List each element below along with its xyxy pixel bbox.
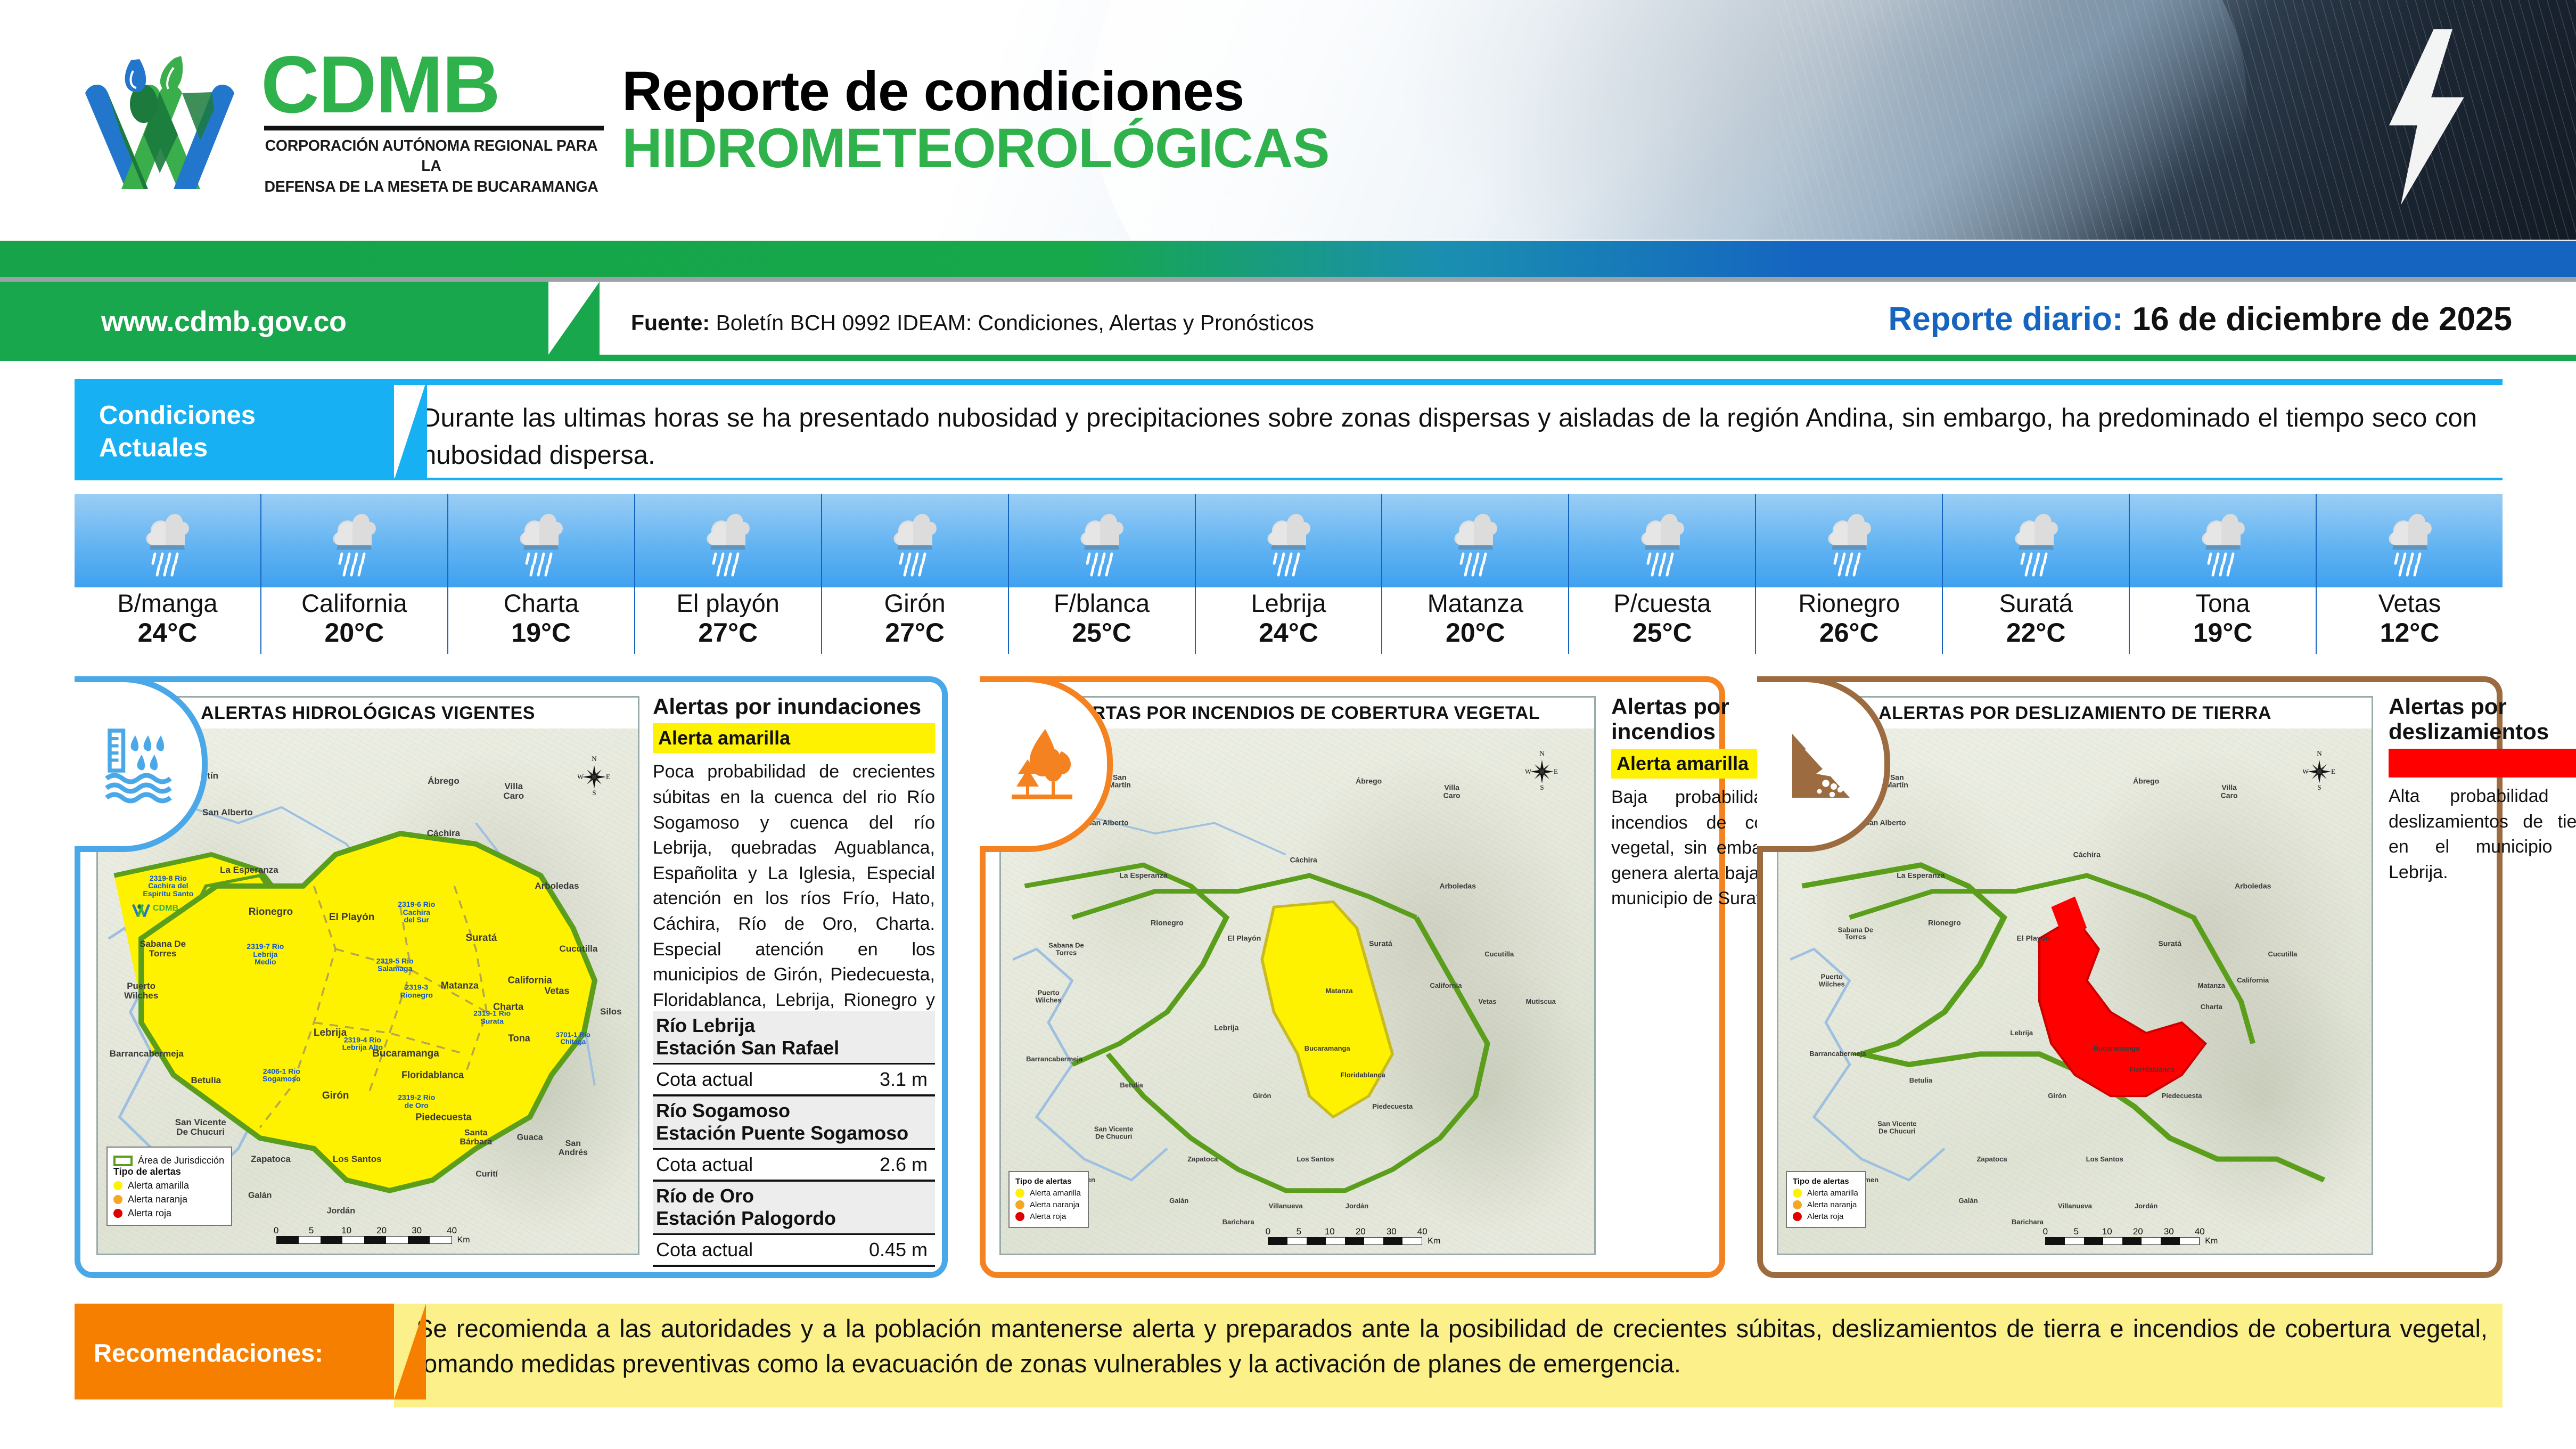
svg-text:CDMB: CDMB [153,904,178,913]
scalebar-tick: 5 [2074,1226,2079,1237]
fire-map-legend: Tipo de alertas Alerta amarilla Alerta n… [1008,1171,1089,1228]
scalebar-bar [276,1236,452,1244]
scalebar-segment [1364,1238,1383,1245]
page-header: CDMB CORPORACIÓN AUTÓNOMA REGIONAL PARA … [0,0,2576,240]
rain-cloud-icon [1444,504,1507,578]
legend-title: Tipo de alertas [113,1166,224,1177]
rain-cloud-icon [2378,504,2441,578]
scalebar-unit: Km [457,1235,470,1245]
scalebar-segment [1326,1238,1345,1245]
landslide-map-scalebar: 0510203040Km [2045,1226,2200,1245]
current-conditions-body: Durante las ultimas horas se ha presenta… [394,379,2503,480]
scalebar-tick: 30 [412,1225,422,1236]
recommendations-text: Se recomienda a las autoridades y a la p… [416,1311,2488,1381]
temperature-icon-area [1756,494,1942,587]
temperature-value: 24°C [75,618,260,648]
station-metric-value: 2.6 m [880,1153,928,1176]
website-url[interactable]: www.cdmb.gov.co [101,305,347,338]
report-date-label: Reporte diario: [1888,301,2123,338]
source-line: Fuente: Boletín BCH 0992 IDEAM: Condicio… [631,310,1314,335]
rain-cloud-icon [1070,504,1133,578]
temperature-cell: Tona 19°C [2130,494,2317,654]
flood-alert-panel: ALERTAS HIDROLÓGICAS VIGENTES [75,676,948,1278]
scalebar-unit: Km [2205,1237,2218,1246]
lightning-bolt-icon [2363,29,2485,205]
legend-color-dot-icon [1793,1200,1802,1209]
svg-text:N: N [2317,749,2322,757]
station-row: Cota actual 0.45 m [653,1235,935,1267]
temperature-city: Charta [448,590,634,618]
legend-item-label: Alerta roja [128,1208,171,1219]
logo-acronym: CDMB [261,48,618,122]
scalebar-bar [2045,1237,2200,1245]
landslide-body-text: Alta probabilidad de deslizamientos de t… [2389,784,2576,885]
scalebar-segment [364,1237,386,1243]
scalebar-segment [1307,1238,1326,1245]
flood-body-text: Poca probabilidad de crecientes súbitas … [653,759,935,1038]
scalebar-tick: 0 [274,1225,278,1236]
temperature-labels: California 20°C [261,587,447,654]
temperature-value: 27°C [822,618,1008,648]
scalebar-tick: 0 [2043,1226,2048,1237]
temperature-icon-area [261,494,447,587]
temperature-value: 22°C [1943,618,2129,648]
legend-item: Alerta roja [113,1208,224,1219]
temperature-labels: Girón 27°C [822,587,1008,654]
svg-text:N: N [1539,749,1545,757]
scalebar-tick: 40 [1417,1226,1428,1237]
scalebar-tick: 10 [341,1225,351,1236]
rain-cloud-icon [510,504,572,578]
legend-item: Alerta naranja [1015,1200,1081,1209]
temperature-cell: Girón 27°C [822,494,1009,654]
legend-color-dot-icon [1015,1200,1024,1209]
legend-color-dot-icon [1015,1189,1024,1198]
title-line-2: HIDROMETEOROLÓGICAS [622,120,1330,177]
river-stations-table: Río Lebrija Estación San Rafael Cota act… [653,1011,935,1267]
temperature-city: F/blanca [1009,590,1195,618]
scalebar-tick: 10 [1325,1226,1335,1237]
station-metric-value: 0.45 m [869,1239,928,1261]
legend-color-dot-icon [113,1181,122,1190]
temperature-labels: B/manga 24°C [75,587,260,654]
rain-cloud-icon [323,504,385,578]
temperature-labels: Matanza 20°C [1382,587,1568,654]
header-blue-arc [1448,0,2247,240]
temperature-value: 25°C [1009,618,1195,648]
temperature-value: 20°C [1382,618,1568,648]
station-header: Río de Oro Estación Palogordo [653,1182,935,1235]
legend-item-label: Alerta naranja [128,1194,187,1205]
scalebar-segment [2103,1238,2122,1245]
water-level-gauge-icon [99,724,178,804]
scalebar-tick: 20 [2133,1226,2143,1237]
scalebar-segment [430,1237,452,1243]
legend-item-label: Alerta roja [1030,1212,1066,1221]
temperature-icon-area [822,494,1008,587]
temperature-cell: Lebrija 24°C [1196,494,1383,654]
temperature-city: Rionegro [1756,590,1942,618]
svg-text:S: S [1540,783,1544,791]
flood-map-legend: Área de JurisdicciónTipo de alertas Aler… [106,1147,232,1226]
scalebar-segment [2161,1238,2180,1245]
temperature-value: 26°C [1756,618,1942,648]
rain-cloud-icon [883,504,946,578]
temperature-value: 20°C [261,618,447,648]
legend-color-dot-icon [113,1195,122,1204]
temperature-value: 19°C [448,618,634,648]
station-river: Río Sogamoso [656,1100,931,1122]
legend-title: Tipo de alertas [1793,1177,1858,1186]
temperature-cell: Vetas 12°C [2317,494,2503,654]
legend-item: Alerta roja [1015,1212,1081,1221]
legend-jurisdiction-label: Área de Jurisdicción [138,1155,224,1166]
rain-cloud-icon [696,504,759,578]
temperature-city: Lebrija [1196,590,1382,618]
temperature-icon-area [1382,494,1568,587]
scalebar-tick: 40 [2195,1226,2205,1237]
svg-text:E: E [1554,767,1558,775]
temperature-icon-area [448,494,634,587]
svg-text:N: N [592,755,597,763]
fire-alert-panel: ALERTAS POR INCENDIOS DE COBERTURA VEGET… [980,676,1725,1278]
scalebar-segment [299,1237,321,1243]
flood-heading: Alertas por inundaciones [653,694,935,719]
svg-text:S: S [2318,783,2321,791]
legend-item: Alerta amarilla [113,1180,224,1191]
alert-panels-row: ALERTAS HIDROLÓGICAS VIGENTES [75,676,2503,1278]
temperature-labels: Charta 19°C [448,587,634,654]
svg-text:W: W [1525,767,1532,775]
svg-text:W: W [2303,767,2309,775]
fire-map-scalebar: 0510203040Km [1268,1226,1422,1245]
page-title: Reporte de condiciones HIDROMETEOROLÓGIC… [622,63,1330,177]
station-row: Cota actual 2.6 m [653,1150,935,1182]
temperature-cell: F/blanca 25°C [1009,494,1196,654]
current-conditions-tab: Condiciones Actuales [75,379,394,480]
station-name: Estación San Rafael [656,1037,931,1059]
compass-rose-icon: N S W E [578,755,611,796]
landslide-alert-level [2389,749,2576,777]
temperature-icon-area [1196,494,1382,587]
legend-item-label: Alerta amarilla [1030,1189,1081,1198]
temperature-cell: P/cuesta 25°C [1569,494,1756,654]
compass-rose-icon: N S W E [1525,749,1558,791]
legend-item-label: Alerta roja [1807,1212,1843,1221]
legend-jurisdiction-row: Área de Jurisdicción [113,1155,224,1166]
forest-fire-icon [1004,724,1084,804]
station-metric-label: Cota actual [656,1239,753,1261]
landslide-heading-line1: Alertas por [2389,694,2576,719]
legend-title: Tipo de alertas [1015,1177,1081,1186]
scalebar-segment [1287,1238,1307,1245]
scalebar-segment [2046,1238,2065,1245]
scalebar-segment [2142,1238,2161,1245]
scalebar-tick: 20 [1356,1226,1366,1237]
rain-cloud-icon [2192,504,2254,578]
station-metric-label: Cota actual [656,1068,753,1091]
scalebar-segment [2180,1238,2199,1245]
temperature-value: 24°C [1196,618,1382,648]
scalebar-segment [408,1237,430,1243]
recommendations-tab-label: Recomendaciones: [94,1338,323,1368]
landslide-alert-panel: ALERTAS POR DESLIZAMIENTO DE TIERRA N S … [1757,676,2503,1278]
scalebar-segment [1402,1238,1422,1245]
landslide-map-legend: Tipo de alertas Alerta amarilla Alerta n… [1786,1171,1866,1228]
temperature-city: Vetas [2317,590,2503,618]
scalebar-segment [2084,1238,2103,1245]
landslide-icon [1781,724,1861,804]
temperature-cell: Charta 19°C [448,494,635,654]
scalebar-segment [277,1237,299,1243]
temperature-value: 27°C [635,618,821,648]
legend-item: Alerta naranja [113,1194,224,1205]
cdmb-logo-mark-icon [80,40,256,194]
temperature-cell: B/manga 24°C [75,494,261,654]
legend-item-label: Alerta amarilla [128,1180,189,1191]
temperature-city: Girón [822,590,1008,618]
temperature-city: P/cuesta [1569,590,1755,618]
landslide-text-block: Alertas por deslizamientos Alta probabil… [2389,694,2576,885]
scalebar-ticks: 0510203040 [276,1225,452,1236]
svg-text:S: S [593,789,596,796]
rain-cloud-icon [1257,504,1320,578]
logo-subtitle-line1: CORPORACIÓN AUTÓNOMA REGIONAL PARA LA [261,136,602,177]
temperature-city: Matanza [1382,590,1568,618]
temperature-labels: Vetas 12°C [2317,587,2503,654]
scalebar-segment [2122,1238,2142,1245]
scalebar-segment [321,1237,342,1243]
scalebar-bar [1268,1237,1422,1245]
conditions-tab-line1: Condiciones [99,399,256,432]
title-line-1: Reporte de condiciones [622,63,1330,120]
temperature-city: El playón [635,590,821,618]
temperature-value: 25°C [1569,618,1755,648]
conditions-tab-line2: Actuales [99,432,256,464]
temperature-labels: P/cuesta 25°C [1569,587,1755,654]
recommendations-section: Recomendaciones: Se recomienda a las aut… [75,1304,2503,1415]
scalebar-ticks: 0510203040 [2045,1226,2200,1237]
source-text: Boletín BCH 0992 IDEAM: Condiciones, Ale… [716,310,1314,335]
scalebar-segment [1345,1238,1364,1245]
temperature-city: Tona [2130,590,2316,618]
station-river: Río de Oro [656,1185,931,1207]
scalebar-segment [342,1237,364,1243]
scalebar-tick: 0 [1266,1226,1270,1237]
rain-cloud-icon [2005,504,2068,578]
temperature-labels: Lebrija 24°C [1196,587,1382,654]
legend-item: Alerta amarilla [1015,1189,1081,1198]
station-header: Río Lebrija Estación San Rafael [653,1011,935,1065]
flood-alert-level: Alerta amarilla [653,723,935,753]
scalebar-ticks: 0510203040 [1268,1226,1422,1237]
current-conditions-section: Condiciones Actuales Durante las ultimas… [75,379,2503,480]
temperature-icon-area [75,494,260,587]
scalebar-tick: 30 [2164,1226,2174,1237]
temperature-labels: F/blanca 25°C [1009,587,1195,654]
rain-cloud-icon [136,504,199,578]
scalebar-unit: Km [1428,1237,1440,1246]
station-metric-label: Cota actual [656,1153,753,1176]
temperature-labels: Tona 19°C [2130,587,2316,654]
temperature-cell: Rionegro 26°C [1756,494,1943,654]
temperature-city: California [261,590,447,618]
temperature-labels: Suratá 22°C [1943,587,2129,654]
rain-cloud-icon [1818,504,1881,578]
scalebar-segment [2065,1238,2084,1245]
scalebar-tick: 30 [1387,1226,1397,1237]
legend-color-dot-icon [1793,1189,1802,1198]
legend-item-label: Alerta naranja [1807,1200,1857,1209]
flood-text-block: Alertas por inundaciones Alerta amarilla… [653,694,935,1038]
legend-color-dot-icon [1015,1212,1024,1221]
info-bar: www.cdmb.gov.co Fuente: Boletín BCH 0992… [0,282,2576,355]
station-header: Río Sogamoso Estación Puente Sogamoso [653,1096,935,1150]
temperature-cell: El playón 27°C [635,494,822,654]
station-name: Estación Puente Sogamoso [656,1122,931,1144]
legend-item: Alerta amarilla [1793,1189,1858,1198]
temperature-city: Suratá [1943,590,2129,618]
logo-subtitle-line2: DEFENSA DE LA MESETA DE BUCARAMANGA [261,177,602,197]
scalebar-tick: 40 [447,1225,457,1236]
station-river: Río Lebrija [656,1014,931,1037]
landslide-heading-line2: deslizamientos [2389,719,2576,744]
scalebar-tick: 10 [2102,1226,2112,1237]
svg-text:W: W [578,773,584,781]
temperature-city: B/manga [75,590,260,618]
legend-item: Alerta naranja [1793,1200,1858,1209]
svg-text:E: E [2331,767,2335,775]
temperature-icon-area [1569,494,1755,587]
temperature-value: 19°C [2130,618,2316,648]
cdmb-map-watermark-icon: CDMB [130,897,194,919]
temperature-cell: Suratá 22°C [1943,494,2130,654]
temperature-icon-area [2130,494,2316,587]
legend-item-label: Alerta amarilla [1807,1189,1858,1198]
scalebar-tick: 5 [309,1225,314,1236]
scalebar-segment [1268,1238,1287,1245]
header-color-band [0,241,2576,277]
recommendations-body: Se recomienda a las autoridades y a la p… [394,1304,2503,1407]
temperature-icon-area [2317,494,2503,587]
scalebar-tick: 20 [376,1225,387,1236]
cdmb-logo: CDMB CORPORACIÓN AUTÓNOMA REGIONAL PARA … [80,40,618,194]
scalebar-segment [386,1237,408,1243]
legend-item-label: Alerta naranja [1030,1200,1079,1209]
station-row: Cota actual 3.1 m [653,1065,935,1096]
temperature-icon-area [1009,494,1195,587]
svg-text:E: E [606,773,610,781]
temperature-icon-area [1943,494,2129,587]
scalebar-segment [1383,1238,1402,1245]
temperature-labels: Rionegro 26°C [1756,587,1942,654]
temperature-strip: B/manga 24°C California 20°C Charta [75,494,2503,654]
station-metric-value: 3.1 m [880,1068,928,1091]
temperature-labels: El playón 27°C [635,587,821,654]
header-band-shadow [0,277,2576,282]
temperature-cell: Matanza 20°C [1382,494,1569,654]
station-name: Estación Palogordo [656,1207,931,1230]
info-bar-rule [0,355,2576,361]
current-conditions-text: Durante las ultimas horas se ha presenta… [422,400,2477,474]
source-label: Fuente: [631,310,710,335]
legend-color-dot-icon [113,1209,122,1218]
legend-item: Alerta roja [1793,1212,1858,1221]
temperature-cell: California 20°C [261,494,448,654]
report-date-value: 16 de diciembre de 2025 [2132,301,2512,338]
jurisdiction-swatch-icon [113,1156,133,1166]
scalebar-tick: 5 [1297,1226,1301,1237]
report-date-line: Reporte diario: 16 de diciembre de 2025 [1888,300,2512,338]
compass-rose-icon: N S W E [2303,749,2336,791]
recommendations-tab: Recomendaciones: [75,1304,394,1399]
temperature-icon-area [635,494,821,587]
legend-color-dot-icon [1793,1212,1802,1221]
temperature-value: 12°C [2317,618,2503,648]
flood-map-scalebar: 0510203040Km [276,1225,452,1244]
rain-cloud-icon [1631,504,1694,578]
